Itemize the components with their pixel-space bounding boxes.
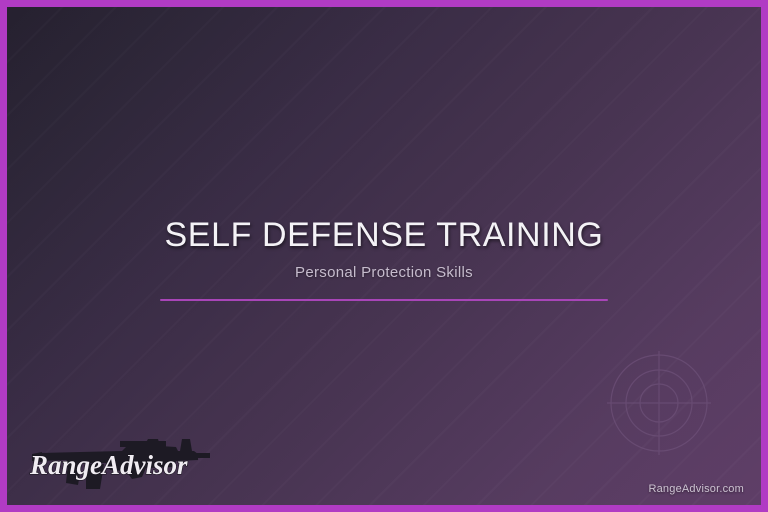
watermark-text: RangeAdvisor.com [648, 483, 744, 495]
page-title: SELF DEFENSE TRAINING [7, 213, 761, 257]
crosshair-target-icon [604, 348, 714, 458]
slide-canvas: SELF DEFENSE TRAINING Personal Protectio… [7, 7, 761, 505]
brand-logo: RangeAdvisor [26, 427, 212, 499]
page-subtitle: Personal Protection Skills [7, 263, 761, 283]
presentation-slide: SELF DEFENSE TRAINING Personal Protectio… [0, 0, 768, 512]
title-divider [160, 299, 608, 301]
brand-wordmark: RangeAdvisor [29, 450, 188, 480]
slide-content: SELF DEFENSE TRAINING Personal Protectio… [7, 213, 761, 301]
